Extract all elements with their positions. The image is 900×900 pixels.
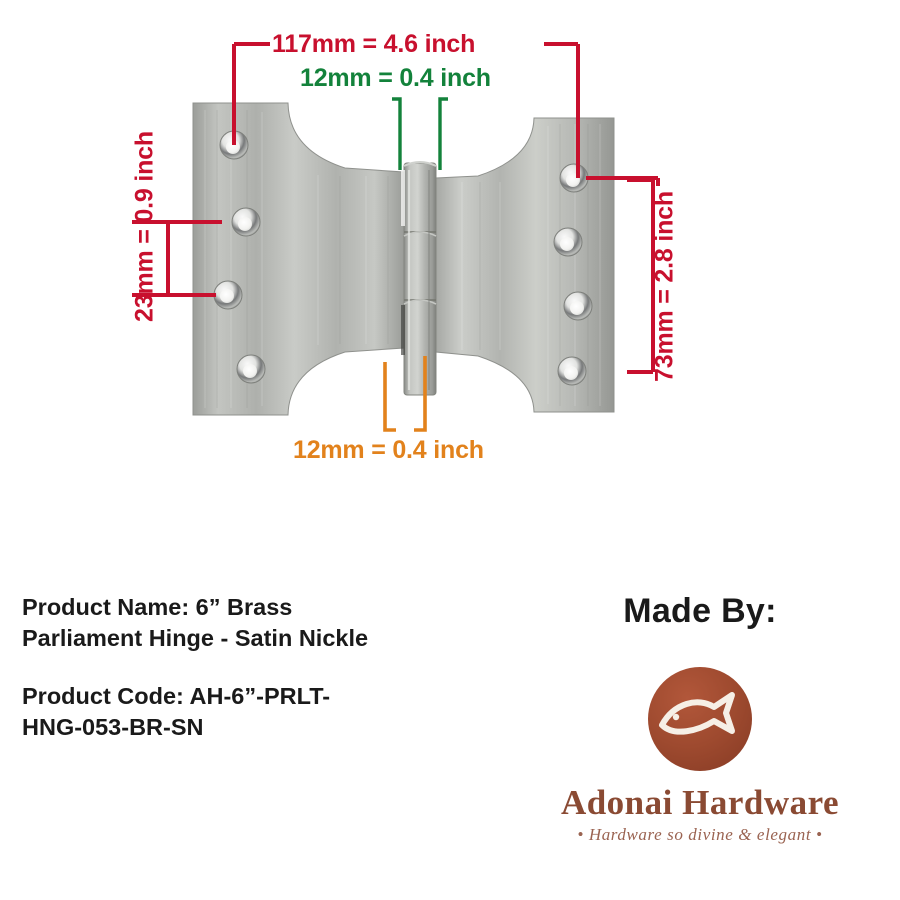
hinge-knuckle-barrel bbox=[401, 162, 436, 395]
dimension-line-leaf-height bbox=[627, 180, 653, 372]
hinge-right-leaf bbox=[436, 118, 614, 412]
product-code-line-2: HNG-053-BR-SN bbox=[22, 712, 492, 743]
product-name-line-1: Product Name: 6” Brass bbox=[22, 592, 492, 623]
product-code-line-1: Product Code: AH-6”-PRLT- bbox=[22, 681, 492, 712]
made-by-title: Made By: bbox=[500, 592, 900, 631]
product-info-block: Product Name: 6” Brass Parliament Hinge … bbox=[22, 592, 492, 743]
dimension-label-pin-thickness: 12mm = 0.4 inch bbox=[293, 436, 484, 465]
product-spec-sheet: 117mm = 4.6 inch 12mm = 0.4 inch 23mm = … bbox=[0, 0, 900, 900]
dimension-line-knuckle-width bbox=[392, 99, 448, 170]
fish-ichthys-icon bbox=[640, 659, 760, 779]
hinge-dimension-diagram: 117mm = 4.6 inch 12mm = 0.4 inch 23mm = … bbox=[0, 0, 900, 560]
dimension-label-knuckle-width: 12mm = 0.4 inch bbox=[300, 64, 491, 93]
brand-tagline: • Hardware so divine & elegant • bbox=[500, 825, 900, 845]
made-by-block: Made By: Adonai Hardware • Hardware so d… bbox=[500, 592, 900, 845]
dimension-label-width-total: 117mm = 4.6 inch bbox=[272, 30, 475, 59]
dimension-label-leaf-height: 73mm = 2.8 inch bbox=[651, 137, 680, 437]
brand-logo: Adonai Hardware • Hardware so divine & e… bbox=[500, 659, 900, 845]
brand-name: Adonai Hardware bbox=[500, 783, 900, 823]
product-name-line-2: Parliament Hinge - Satin Nickle bbox=[22, 623, 492, 654]
product-name: Product Name: 6” Brass Parliament Hinge … bbox=[22, 592, 492, 655]
product-code: Product Code: AH-6”-PRLT- HNG-053-BR-SN bbox=[22, 681, 492, 744]
dimension-label-hole-spacing: 23mm = 0.9 inch bbox=[131, 77, 160, 377]
